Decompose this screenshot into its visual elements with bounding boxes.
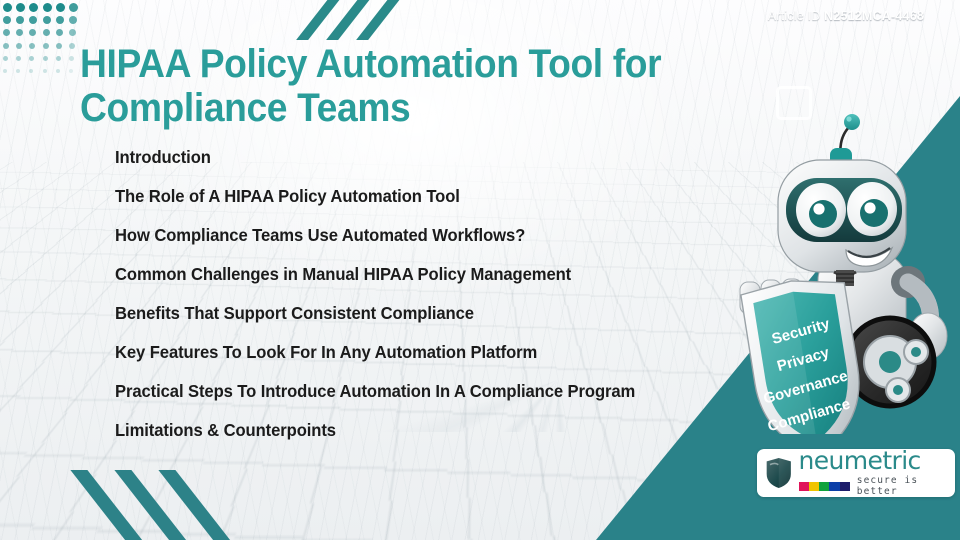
dot xyxy=(43,43,49,49)
dot xyxy=(29,3,38,12)
decorative-dot-grid xyxy=(0,0,90,88)
shield-icon xyxy=(765,454,793,492)
dot xyxy=(29,56,34,61)
logo-bar-segment-4 xyxy=(829,482,839,491)
slide-canvas: Article ID N2512MCA-4468 HIPAA Policy Au… xyxy=(0,0,960,540)
dot xyxy=(56,56,61,61)
article-id: Article ID N2512MCA-4468 xyxy=(768,9,924,23)
page-title: HIPAA Policy Automation Tool for Complia… xyxy=(80,42,824,130)
dot xyxy=(29,69,33,73)
logo-bar-segment-1 xyxy=(799,482,809,491)
toc-item-3[interactable]: How Compliance Teams Use Automated Workf… xyxy=(115,216,647,255)
toc-item-1[interactable]: Introduction xyxy=(115,138,647,177)
dot xyxy=(29,43,35,49)
dot xyxy=(3,3,12,12)
dot xyxy=(3,43,9,49)
logo-wordmark: neumetric xyxy=(799,449,947,473)
dot xyxy=(16,56,21,61)
dot xyxy=(16,3,25,12)
dot xyxy=(16,43,22,49)
dot xyxy=(69,43,75,49)
logo-bar-segment-5 xyxy=(840,482,850,491)
dot xyxy=(3,69,7,73)
dot xyxy=(43,3,52,12)
dot xyxy=(69,3,78,12)
dot xyxy=(69,69,73,73)
dot xyxy=(56,43,62,49)
dot xyxy=(3,16,11,24)
dot xyxy=(3,56,8,61)
dot xyxy=(69,56,74,61)
dot xyxy=(16,29,23,36)
toc-item-2[interactable]: The Role of A HIPAA Policy Automation To… xyxy=(115,177,647,216)
decorative-stripes-bottom xyxy=(104,470,304,540)
toc-item-5[interactable]: Benefits That Support Consistent Complia… xyxy=(115,294,647,333)
dot xyxy=(69,16,77,24)
dot xyxy=(56,3,65,12)
toc-item-8[interactable]: Limitations & Counterpoints xyxy=(115,411,647,450)
dot xyxy=(43,29,50,36)
logo-color-bar xyxy=(799,482,850,491)
dot xyxy=(29,29,36,36)
dot xyxy=(56,16,64,24)
dot xyxy=(29,16,37,24)
dot xyxy=(56,29,63,36)
decorative-stripes-top xyxy=(318,0,448,36)
dot xyxy=(16,69,20,73)
dot xyxy=(3,29,10,36)
table-of-contents: IntroductionThe Role of A HIPAA Policy A… xyxy=(115,138,675,450)
toc-item-4[interactable]: Common Challenges in Manual HIPAA Policy… xyxy=(115,255,671,294)
dot xyxy=(16,16,24,24)
article-id-value: N2512MCA-4468 xyxy=(824,9,924,23)
neumetric-logo[interactable]: neumetric secure is better xyxy=(757,449,955,497)
logo-tagline: secure is better xyxy=(857,475,947,497)
logo-bar-segment-3 xyxy=(819,482,829,491)
robot-mascot: Security Privacy Governance Compliance xyxy=(722,104,960,434)
dot xyxy=(69,29,76,36)
article-id-label: Article ID xyxy=(768,9,821,23)
dot xyxy=(43,56,48,61)
dot xyxy=(43,69,47,73)
dot xyxy=(56,69,60,73)
toc-item-7[interactable]: Practical Steps To Introduce Automation … xyxy=(115,372,671,411)
toc-item-6[interactable]: Key Features To Look For In Any Automati… xyxy=(115,333,671,372)
logo-bar-segment-2 xyxy=(809,482,819,491)
dot xyxy=(43,16,51,24)
